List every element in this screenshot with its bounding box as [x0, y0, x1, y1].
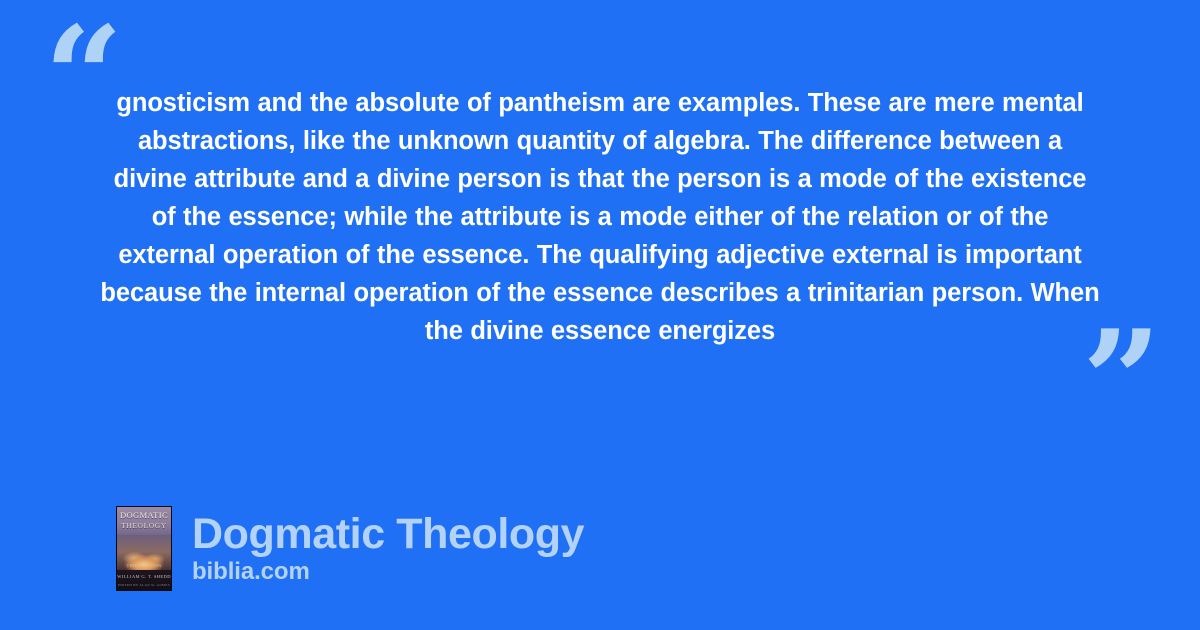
footer-text-group: Dogmatic Theology biblia.com: [192, 512, 584, 586]
cover-title-line-2: THEOLOGY: [117, 521, 171, 530]
footer: DOGMATIC THEOLOGY THIRD EDITION WILLIAM …: [116, 506, 584, 591]
site-name[interactable]: biblia.com: [192, 558, 584, 586]
quote-text: gnosticism and the absolute of pantheism…: [100, 84, 1100, 350]
quote-block: gnosticism and the absolute of pantheism…: [100, 84, 1100, 350]
cover-edition-label: THIRD EDITION: [117, 563, 171, 568]
cover-bottom-band: [117, 570, 171, 590]
cover-publisher-line: EDITED BY ALAN W. GOMES: [117, 583, 171, 587]
closing-quote-icon: ”: [1082, 312, 1159, 450]
quote-card: “ gnosticism and the absolute of panthei…: [0, 0, 1200, 630]
cover-author-name: WILLIAM G. T. SHEDD: [117, 574, 171, 579]
book-cover-thumbnail: DOGMATIC THEOLOGY THIRD EDITION WILLIAM …: [116, 506, 172, 591]
cover-cloud-artwork: [117, 535, 171, 575]
cover-title-line-1: DOGMATIC: [117, 510, 171, 520]
book-title: Dogmatic Theology: [192, 512, 584, 556]
